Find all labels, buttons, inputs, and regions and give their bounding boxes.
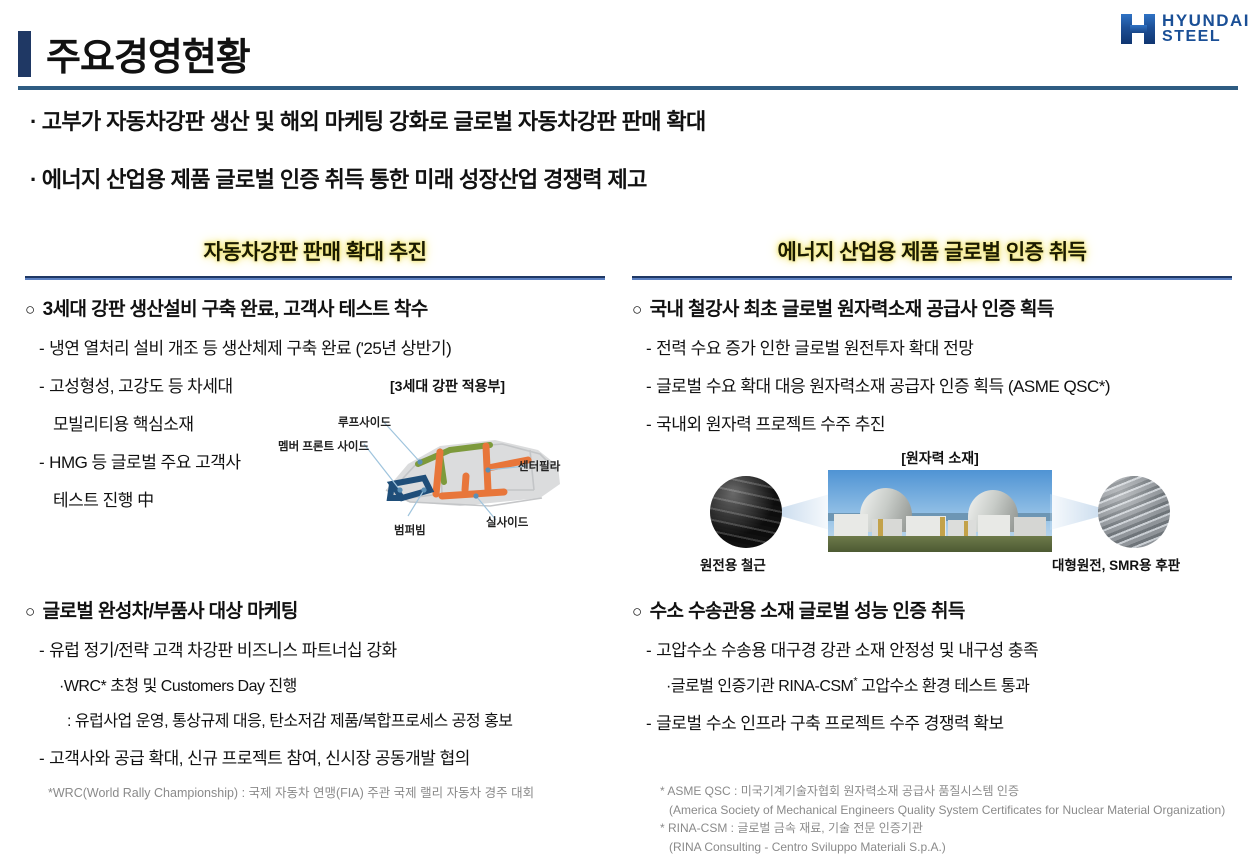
left-b2-item-3: : 유럽사업 운영, 통상규제 대응, 탄소저감 제품/복합프로세스 공정 홍보 — [25, 707, 605, 731]
logo-text-hyundai: HYUNDAI — [1162, 12, 1250, 29]
dash-bullet-icon: - — [646, 415, 651, 434]
dash-bullet-icon: - — [646, 377, 651, 396]
car-label-center-pillar: 센터필라 — [518, 458, 560, 474]
left-b2-item-2: ·WRC* 초청 및 Customers Day 진행 — [25, 672, 605, 696]
car-figure-caption: [3세대 강판 적용부] — [390, 376, 505, 396]
page-title: 주요경영현황 — [46, 26, 250, 81]
right-divider-bottom — [632, 278, 1232, 280]
left-column-header: 자동차강판 판매 확대 추진 — [25, 238, 605, 270]
dash-bullet-icon: - — [39, 377, 44, 396]
left-b1-item-1: -냉연 열처리 설비 개조 등 생산체제 구축 완료 ('25년 상반기) — [25, 334, 605, 359]
left-b2-item-1: -유럽 정기/전략 고객 차강판 비즈니스 파트너십 강화 — [25, 636, 605, 661]
bullet-dot-icon: · — [30, 167, 37, 192]
nuclear-plant-photo — [828, 470, 1052, 552]
right-b2-item-1: -고압수소 수송용 대구경 강관 소재 안정성 및 내구성 충족 — [632, 636, 1232, 661]
header-divider — [18, 86, 1238, 90]
logo-text-steel: STEEL — [1162, 29, 1250, 45]
right-b2-item-3: -글로벌 수소 인프라 구축 프로젝트 수주 경쟁력 확보 — [632, 709, 1232, 734]
right-footnote-3: * RINA-CSM : 글로벌 금속 재료, 기술 전문 인증기관 — [660, 819, 1225, 838]
right-b1-item-3: -국내외 원자력 프로젝트 수주 추진 — [632, 410, 1232, 435]
left-b2-item-4: -고객사와 공급 확대, 신규 프로젝트 참여, 신시장 공동개발 협의 — [25, 744, 605, 769]
steel-plate-photo — [1098, 476, 1170, 548]
right-column: 에너지 산업용 제품 글로벌 인증 취득 ○ 국내 철강사 최초 글로벌 원자력… — [632, 238, 1232, 435]
summary-bullet-1: ·고부가 자동차강판 생산 및 해외 마케팅 강화로 글로벌 자동차강판 판매 … — [30, 104, 1230, 136]
circle-bullet-icon: ○ — [25, 300, 35, 320]
nuclear-material-figure: [원자력 소재] 원전용 철근 대형원전, SMR용 후판 — [700, 448, 1180, 588]
rebar-photo — [710, 476, 782, 548]
right-block-1-title: ○ 국내 철강사 최초 글로벌 원자력소재 공급사 인증 획득 — [632, 294, 1232, 321]
nuclear-label-plate: 대형원전, SMR용 후판 — [1052, 554, 1180, 574]
left-divider-bottom — [25, 278, 605, 280]
hyundai-h-icon — [1121, 14, 1155, 44]
right-column-header: 에너지 산업용 제품 글로벌 인증 취득 — [632, 238, 1232, 270]
bullet-dot-icon: · — [30, 109, 37, 134]
right-block-2-title: ○ 수소 수송관용 소재 글로벌 성능 인증 취득 — [632, 596, 1232, 623]
left-footnote: *WRC(World Rally Championship) : 국제 자동차 … — [48, 782, 534, 801]
summary-bullets: ·고부가 자동차강판 생산 및 해외 마케팅 강화로 글로벌 자동차강판 판매 … — [30, 104, 1230, 220]
arrow-left-icon — [782, 494, 830, 530]
car-label-member-front-side: 멤버 프론트 사이드 — [278, 438, 369, 454]
right-block-2: ○ 수소 수송관용 소재 글로벌 성능 인증 취득 -고압수소 수송용 대구경 … — [632, 596, 1232, 734]
dash-bullet-icon: - — [646, 641, 651, 660]
car-label-side-sill: 실사이드 — [486, 514, 528, 530]
circle-bullet-icon: ○ — [632, 602, 642, 622]
left-block-1-title: ○ 3세대 강판 생산설비 구축 완료, 고객사 테스트 착수 — [25, 294, 605, 321]
hyundai-steel-logo: HYUNDAI STEEL — [1121, 12, 1250, 45]
summary-bullet-2: ·에너지 산업용 제품 글로벌 인증 취득 통한 미래 성장산업 경쟁력 제고 — [30, 162, 1230, 194]
dash-bullet-icon: - — [646, 714, 651, 733]
slide-header: 주요경영현황 — [18, 28, 1238, 88]
circle-bullet-icon: ○ — [25, 602, 35, 622]
right-footnote-1: * ASME QSC : 미국기계기술자협회 원자력소재 공급사 품질시스템 인… — [660, 782, 1225, 801]
right-footnote-4: (RINA Consulting - Centro Sviluppo Mater… — [660, 838, 1225, 857]
circle-bullet-icon: ○ — [632, 300, 642, 320]
arrow-right-icon — [1050, 494, 1100, 530]
dash-bullet-icon: - — [646, 339, 651, 358]
nuclear-figure-caption: [원자력 소재] — [700, 448, 1180, 468]
right-b1-item-2: -글로벌 수요 확대 대응 원자력소재 공급자 인증 획득 (ASME QSC*… — [632, 372, 1232, 397]
car-label-roof-side: 루프사이드 — [338, 414, 391, 430]
car-label-bumper-beam: 범퍼빔 — [394, 522, 426, 538]
right-footnotes: * ASME QSC : 미국기계기술자협회 원자력소재 공급사 품질시스템 인… — [660, 782, 1225, 856]
nuclear-label-rebar: 원전용 철근 — [700, 554, 766, 574]
dash-bullet-icon: - — [39, 641, 44, 660]
right-b2-item-2: ·글로벌 인증기관 RINA-CSM* 고압수소 환경 테스트 통과 — [632, 672, 1232, 696]
left-block-2: ○ 글로벌 완성차/부품사 대상 마케팅 -유럽 정기/전략 고객 차강판 비즈… — [25, 596, 605, 769]
dash-bullet-icon: - — [39, 339, 44, 358]
dash-bullet-icon: - — [39, 749, 44, 768]
slide: 주요경영현황 HYUNDAI STEEL ·고부가 자동차강판 생산 및 해외 … — [0, 0, 1255, 868]
car-body-figure: [3세대 강판 적용부] — [290, 376, 590, 546]
right-block-1: ○ 국내 철강사 최초 글로벌 원자력소재 공급사 인증 획득 -전력 수요 증… — [632, 294, 1232, 435]
title-accent-bar — [18, 31, 31, 77]
left-block-2-title: ○ 글로벌 완성차/부품사 대상 마케팅 — [25, 596, 605, 623]
right-footnote-2: (America Society of Mechanical Engineers… — [660, 801, 1225, 820]
dash-bullet-icon: - — [39, 453, 44, 472]
right-b1-item-1: -전력 수요 증가 인한 글로벌 원전투자 확대 전망 — [632, 334, 1232, 359]
